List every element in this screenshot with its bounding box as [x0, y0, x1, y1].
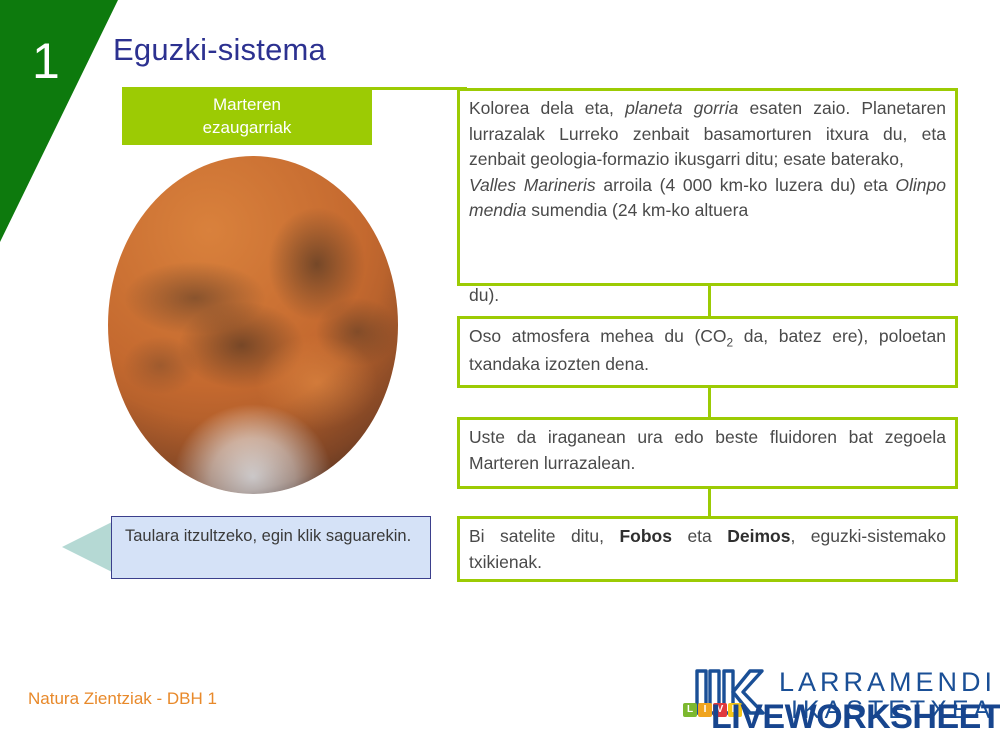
text-run-bold: Deimos — [727, 526, 790, 546]
text-run: Bi satelite ditu, — [469, 526, 619, 546]
text-run: Uste da iraganean ura edo beste fluidore… — [469, 427, 946, 473]
info-box-composition-overflow-text: du). — [469, 283, 499, 309]
info-box-water: Uste da iraganean ura edo beste fluidore… — [457, 417, 958, 489]
slide-number: 1 — [32, 36, 60, 86]
info-box-composition-paragraph-1: Kolorea dela eta, planeta gorria esaten … — [469, 96, 946, 173]
box-connector-line — [708, 388, 711, 417]
footer-course-label: Natura Zientziak - DBH 1 — [28, 689, 217, 709]
text-run: Oso atmosfera mehea du (CO — [469, 326, 727, 346]
mars-globe — [108, 156, 398, 494]
text-run-bold: Fobos — [619, 526, 672, 546]
text-run-italic: planeta gorria — [625, 98, 738, 118]
page-title: Eguzki-sistema — [113, 33, 326, 67]
hint-box[interactable]: Taulara itzultzeko, egin klik saguarekin… — [111, 516, 431, 579]
lw-block-i: I — [698, 703, 712, 717]
feature-header-line2: ezaugarriak — [203, 117, 292, 140]
logo-area: LARRAMENDI IKASTETXEA L I V E LIVEWORKSH… — [683, 663, 995, 745]
text-run-italic: Valles Marineris — [469, 175, 596, 195]
feature-header-box: Marteren ezaugarriak — [122, 88, 372, 145]
box-connector-line — [708, 489, 711, 516]
lw-block-l: L — [683, 703, 697, 717]
box-connector-line — [708, 286, 711, 316]
info-box-composition-paragraph-2: Valles Marineris arroila (4 000 km-ko lu… — [469, 173, 946, 224]
info-box-atmosphere: Oso atmosfera mehea du (CO2 da, batez er… — [457, 316, 958, 388]
feature-header-line1: Marteren — [203, 94, 292, 117]
hint-text: Taulara itzultzeko, egin klik saguarekin… — [125, 527, 411, 545]
text-run: eta — [672, 526, 727, 546]
text-run: Kolorea dela eta, — [469, 98, 625, 118]
text-run: sumendia (24 km-ko altuera — [526, 200, 748, 220]
text-run: arroila (4 000 km-ko luzera du) eta — [596, 175, 896, 195]
info-box-moons: Bi satelite ditu, Fobos eta Deimos, eguz… — [457, 516, 958, 582]
mars-planet-image — [86, 152, 416, 497]
left-arrow-icon — [62, 521, 114, 573]
info-box-composition: Kolorea dela eta, planeta gorria esaten … — [457, 88, 958, 286]
mars-limb-shading — [108, 156, 398, 494]
logo-school-name: LARRAMENDI — [779, 667, 996, 698]
liveworksheets-wordmark: LIVEWORKSHEETS — [711, 698, 1000, 737]
